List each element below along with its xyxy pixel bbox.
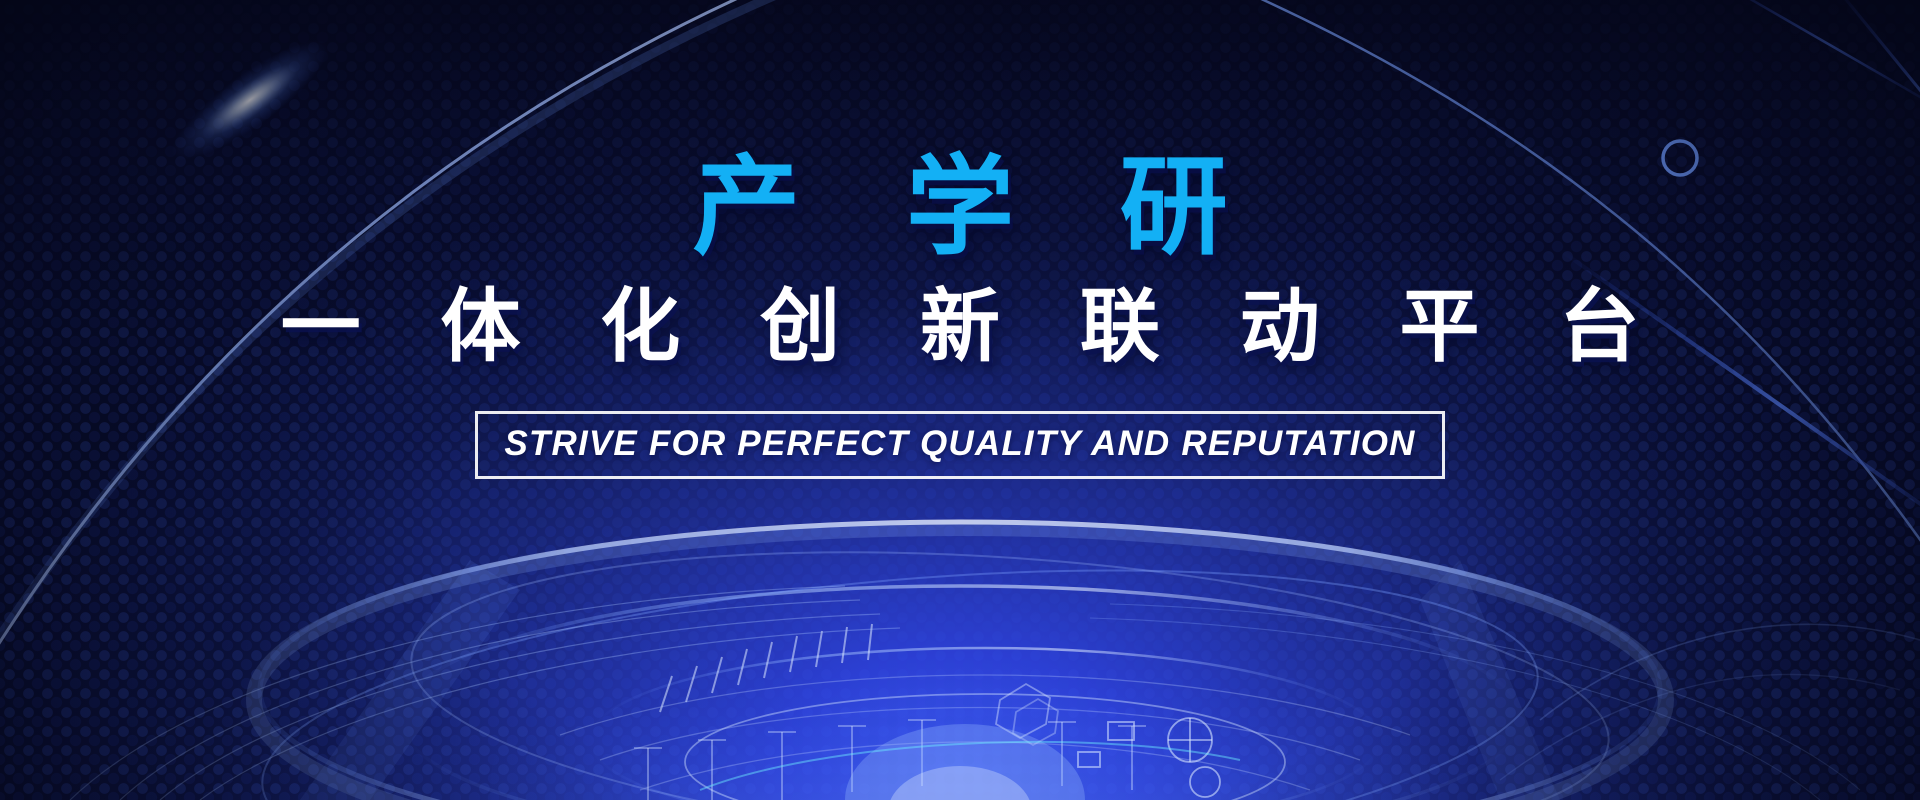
page-title: 产 学 研 xyxy=(0,150,1920,267)
banner-content: 产 学 研 一 体 化 创 新 联 动 平 台 STRIVE FOR PERFE… xyxy=(0,150,1920,479)
page-subtitle: 一 体 化 创 新 联 动 平 台 xyxy=(0,283,1920,371)
tech-banner: 产 学 研 一 体 化 创 新 联 动 平 台 STRIVE FOR PERFE… xyxy=(0,0,1920,800)
hud-globe xyxy=(70,500,1860,800)
slogan-text: STRIVE FOR PERFECT QUALITY AND REPUTATIO… xyxy=(504,424,1415,463)
slogan-box: STRIVE FOR PERFECT QUALITY AND REPUTATIO… xyxy=(475,411,1444,479)
slogan-container: STRIVE FOR PERFECT QUALITY AND REPUTATIO… xyxy=(0,411,1920,479)
network-line-3 xyxy=(1700,0,1920,120)
